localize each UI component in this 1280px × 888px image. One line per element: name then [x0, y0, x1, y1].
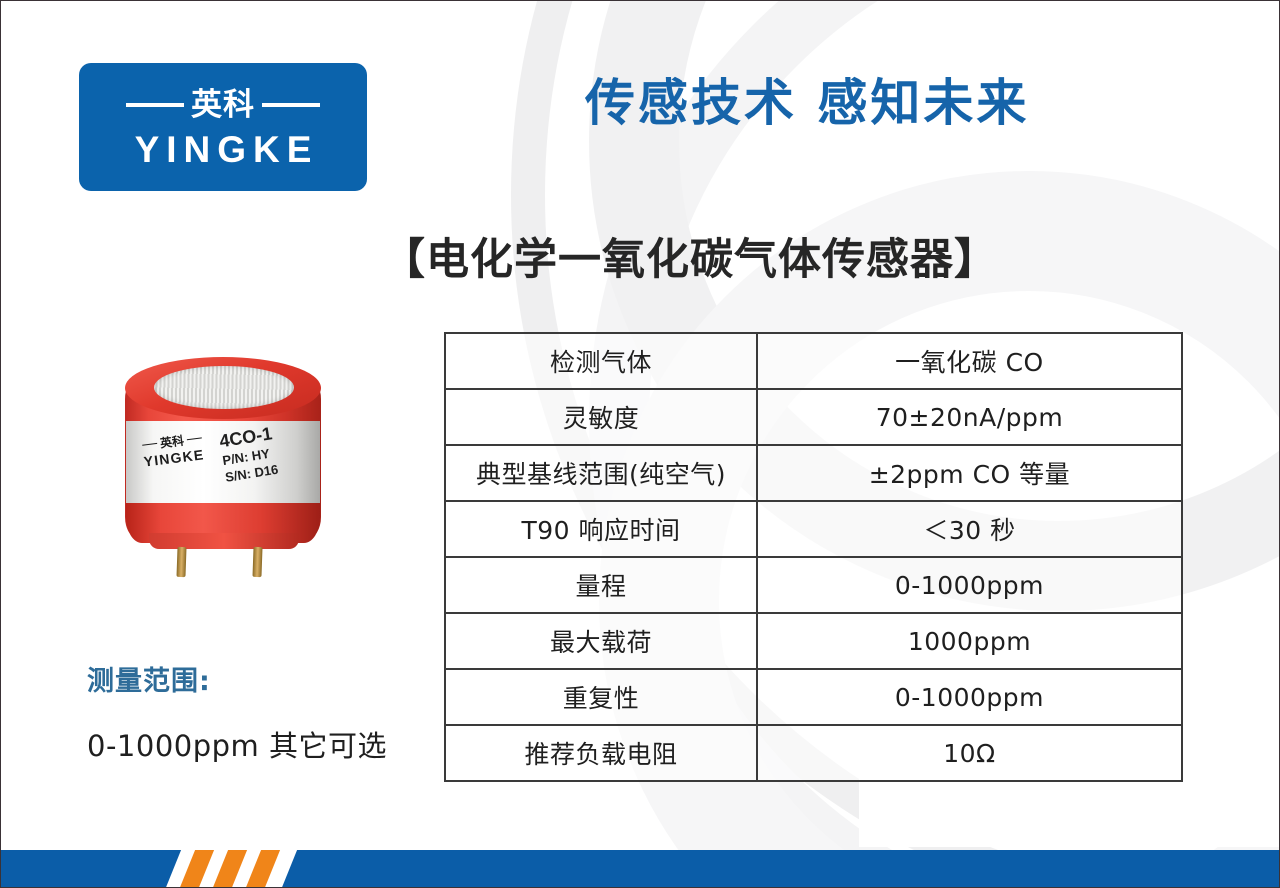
- spec-key: 最大载荷: [445, 613, 757, 669]
- sensor-device-illustration: 英科 YINGKE 4CO-1 P/N: HY S/N: D16: [125, 357, 321, 553]
- product-photo: 英科 YINGKE 4CO-1 P/N: HY S/N: D16: [117, 349, 341, 601]
- measurement-range-value: 0-1000ppm 其它可选: [87, 723, 387, 765]
- sensor-gas-membrane: [154, 366, 294, 409]
- spec-value: 70±20nA/ppm: [757, 389, 1182, 445]
- footer-stripe-3: [241, 850, 285, 887]
- spec-value: 1000ppm: [757, 613, 1182, 669]
- spec-key: 量程: [445, 557, 757, 613]
- spec-key: 重复性: [445, 669, 757, 725]
- footer-bar: [1, 850, 1279, 887]
- measurement-range-label: 测量范围:: [87, 659, 211, 698]
- poster-page: 英科 YINGKE 传感技术 感知未来 【电化学一氧化碳气体传感器】 英科: [0, 0, 1280, 888]
- logo-english-name: YINGKE: [79, 129, 367, 172]
- sensor-pin-left: [176, 547, 186, 577]
- spec-value: 一氧化碳 CO: [757, 333, 1182, 389]
- spec-value: ±2ppm CO 等量: [757, 445, 1182, 501]
- spec-key: 推荐负载电阻: [445, 725, 757, 781]
- spec-row: 最大载荷1000ppm: [445, 613, 1182, 669]
- logo-chinese-row: 英科: [79, 85, 367, 125]
- sensor-label-rule-right: [187, 437, 202, 440]
- sensor-pin-right: [252, 547, 262, 577]
- sensor-label-brand: 英科 YINGKE: [129, 428, 216, 471]
- spec-row: 量程0-1000ppm: [445, 557, 1182, 613]
- sensor-label-codes: 4CO-1 P/N: HY S/N: D16: [218, 423, 280, 486]
- spec-value: ＜30 秒: [757, 501, 1182, 557]
- spec-row: 重复性0-1000ppm: [445, 669, 1182, 725]
- spec-key: T90 响应时间: [445, 501, 757, 557]
- spec-row: T90 响应时间＜30 秒: [445, 501, 1182, 557]
- logo-chinese-name: 英科: [191, 90, 255, 121]
- spec-row: 灵敏度70±20nA/ppm: [445, 389, 1182, 445]
- sensor-label-rule-left: [142, 443, 157, 446]
- spec-value: 10Ω: [757, 725, 1182, 781]
- footer-stripe-2: [208, 850, 252, 887]
- spec-key: 典型基线范围(纯空气): [445, 445, 757, 501]
- spec-row: 典型基线范围(纯空气)±2ppm CO 等量: [445, 445, 1182, 501]
- spec-row: 检测气体一氧化碳 CO: [445, 333, 1182, 389]
- company-logo: 英科 YINGKE: [79, 63, 367, 191]
- logo-rule-right: [262, 103, 320, 107]
- footer-stripe-block: [162, 850, 299, 887]
- header-tagline: 传感技术 感知未来: [585, 63, 1029, 135]
- spec-value: 0-1000ppm: [757, 669, 1182, 725]
- specification-table: 检测气体一氧化碳 CO灵敏度70±20nA/ppm典型基线范围(纯空气)±2pp…: [444, 332, 1183, 782]
- footer-stripe-1: [175, 850, 219, 887]
- specification-table-body: 检测气体一氧化碳 CO灵敏度70±20nA/ppm典型基线范围(纯空气)±2pp…: [445, 333, 1182, 781]
- spec-row: 推荐负载电阻10Ω: [445, 725, 1182, 781]
- spec-value: 0-1000ppm: [757, 557, 1182, 613]
- spec-key: 灵敏度: [445, 389, 757, 445]
- sensor-top-ring: [125, 357, 321, 419]
- product-title: 【电化学一氧化碳气体传感器】: [1, 225, 1279, 287]
- sensor-label-band: 英科 YINGKE 4CO-1 P/N: HY S/N: D16: [126, 421, 320, 503]
- spec-key: 检测气体: [445, 333, 757, 389]
- logo-rule-left: [126, 103, 184, 107]
- sensor-base: [149, 533, 299, 549]
